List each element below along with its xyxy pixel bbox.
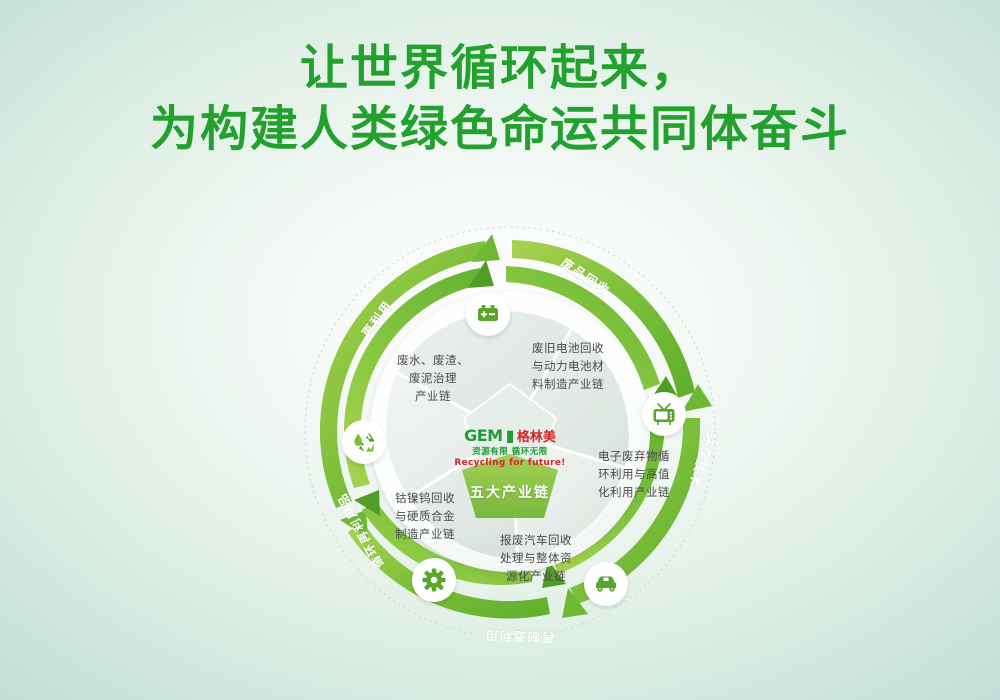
infographic-canvas: 让世界循环起来， 为构建人类绿色命运共同体奋斗: [0, 0, 1000, 700]
gear-icon: [412, 558, 456, 602]
title-line-1: 让世界循环起来，: [0, 38, 1000, 99]
recycle-drop-icon: [342, 420, 386, 464]
tv-icon: [642, 392, 686, 436]
title-line-2: 为构建人类绿色命运共同体奋斗: [0, 99, 1000, 160]
page-title: 让世界循环起来， 为构建人类绿色命运共同体奋斗: [0, 38, 1000, 161]
car-icon: [584, 562, 628, 606]
battery-icon: [466, 292, 510, 336]
